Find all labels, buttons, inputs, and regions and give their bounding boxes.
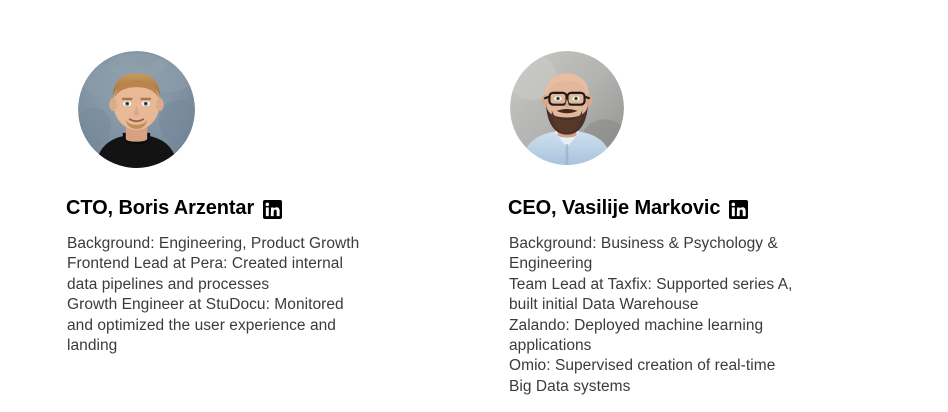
team-slide: CTO, Boris Arzentar Background: Engineer… [0, 0, 948, 412]
member-name: CTO, Boris Arzentar [66, 196, 254, 220]
team-member-card-cto: CTO, Boris Arzentar Background: Engineer… [66, 0, 486, 412]
bio-line: Background: Engineering, Product Growth [67, 234, 413, 254]
member-bio: Background: Business & Psychology & Engi… [509, 234, 861, 397]
bio-line: Zalando: Deployed machine learning [509, 316, 861, 336]
bio-line: data pipelines and processes [67, 275, 413, 295]
bio-line: landing [67, 336, 413, 356]
linkedin-icon[interactable] [729, 200, 748, 219]
avatar-vasilije-markovic [510, 51, 624, 165]
member-bio: Background: Engineering, Product Growth … [67, 234, 413, 356]
bio-line: Big Data systems [509, 377, 861, 397]
bio-line: applications [509, 336, 861, 356]
bio-line: and optimized the user experience and [67, 316, 413, 336]
team-member-card-ceo: CEO, Vasilije Markovic Background: Busin… [508, 0, 928, 412]
linkedin-icon[interactable] [263, 200, 282, 219]
bio-line: Background: Business & Psychology & [509, 234, 861, 254]
team-member-grid: CTO, Boris Arzentar Background: Engineer… [0, 0, 948, 412]
member-name-row: CEO, Vasilije Markovic [508, 196, 748, 220]
avatar-boris-arzentar [78, 51, 195, 168]
bio-line: Omio: Supervised creation of real-time [509, 356, 861, 376]
member-name-row: CTO, Boris Arzentar [66, 196, 282, 220]
member-name: CEO, Vasilije Markovic [508, 196, 720, 220]
bio-line: Growth Engineer at StuDocu: Monitored [67, 295, 413, 315]
bio-line: Engineering [509, 254, 861, 274]
bio-line: Frontend Lead at Pera: Created internal [67, 254, 413, 274]
bio-line: built initial Data Warehouse [509, 295, 861, 315]
bio-line: Team Lead at Taxfix: Supported series A, [509, 275, 861, 295]
